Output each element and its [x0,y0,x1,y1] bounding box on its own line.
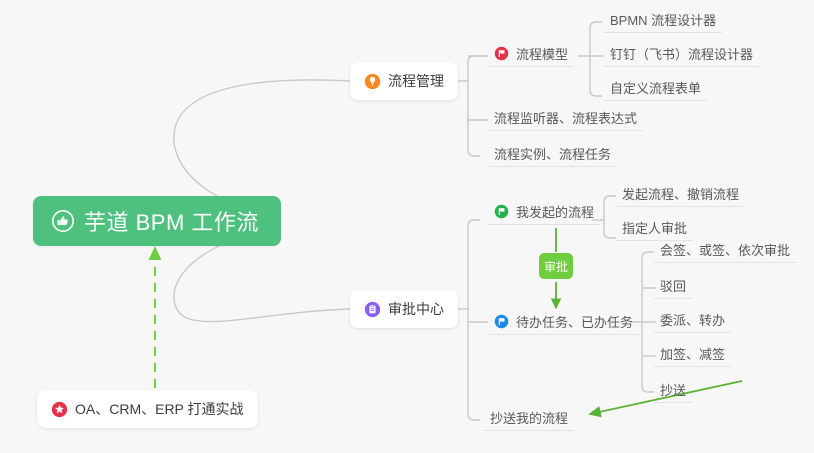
topic-process-listener-expression[interactable]: 流程监听器、流程表达式 [488,108,643,131]
branch-label: 审批中心 [388,299,444,319]
topic-label: 流程监听器、流程表达式 [494,108,637,127]
topic-label: 钉钉（飞书）流程设计器 [610,44,753,63]
topic-carbon-copy[interactable]: 抄送 [654,380,692,403]
edge-ac-spine [468,220,480,420]
topic-custom-process-form[interactable]: 自定义流程表单 [604,78,707,101]
topic-label: BPMN 流程设计器 [610,10,716,29]
topic-label: 流程模型 [516,44,568,63]
branch-process-management[interactable]: 流程管理 [350,62,458,100]
topic-label: 指定人审批 [622,218,687,237]
topic-label: 驳回 [660,276,686,295]
topic-label: 自定义流程表单 [610,78,701,97]
edge-mine-spine [604,196,616,238]
edge-todo-spine [642,252,654,392]
topic-add-remove-sign[interactable]: 加签、减签 [654,344,731,367]
mindmap-canvas: 芋道 BPM 工作流 流程管理 流程模型 BPMN 流程设计器 钉钉（飞书）流程 [0,0,814,453]
star-icon [51,401,68,418]
flag-icon [494,314,509,329]
topic-label: 加签、减签 [660,344,725,363]
thumbs-up-icon [51,209,75,233]
topic-countersign-orsign-sequential[interactable]: 会签、或签、依次审批 [654,240,796,263]
bottom-note-card[interactable]: OA、CRM、ERP 打通实战 [37,390,258,428]
approval-badge: 审批 [539,253,573,279]
topic-my-initiated-process[interactable]: 我发起的流程 [488,202,600,225]
approval-badge-label: 审批 [544,258,568,275]
topic-label: 委派、转办 [660,310,725,329]
topic-reject[interactable]: 驳回 [654,276,692,299]
topic-todo-done-task[interactable]: 待办任务、已办任务 [488,312,639,335]
topic-label: 待办任务、已办任务 [516,312,633,331]
flag-icon [494,46,509,61]
topic-delegate-transfer[interactable]: 委派、转办 [654,310,731,333]
root-label: 芋道 BPM 工作流 [84,205,259,237]
branch-approval-center[interactable]: 审批中心 [350,290,458,328]
lightbulb-pin-icon [364,73,381,90]
topic-start-cancel-process[interactable]: 发起流程、撤销流程 [616,184,745,207]
topic-assignee-approval[interactable]: 指定人审批 [616,218,693,241]
root-node[interactable]: 芋道 BPM 工作流 [33,196,281,246]
clipboard-icon [364,301,381,318]
flag-icon [494,204,509,219]
topic-label: 流程实例、流程任务 [494,144,611,163]
topic-label: 会签、或签、依次审批 [660,240,790,259]
edge-model-spine [590,22,602,96]
topic-label: 抄送我的流程 [490,408,568,427]
branch-label: 流程管理 [388,71,444,91]
edge-pm-spine [468,56,480,156]
topic-cc-to-me-process[interactable]: 抄送我的流程 [484,408,574,431]
topic-label: 发起流程、撤销流程 [622,184,739,203]
topic-process-model[interactable]: 流程模型 [488,44,574,67]
bottom-note-label: OA、CRM、ERP 打通实战 [75,399,244,419]
topic-label: 抄送 [660,380,686,399]
topic-label: 我发起的流程 [516,202,594,221]
edge-root-to-process-management [174,80,350,212]
topic-process-instance-task[interactable]: 流程实例、流程任务 [488,144,617,167]
topic-bpmn-designer[interactable]: BPMN 流程设计器 [604,10,722,33]
topic-dingtalk-feishu-designer[interactable]: 钉钉（飞书）流程设计器 [604,44,759,67]
